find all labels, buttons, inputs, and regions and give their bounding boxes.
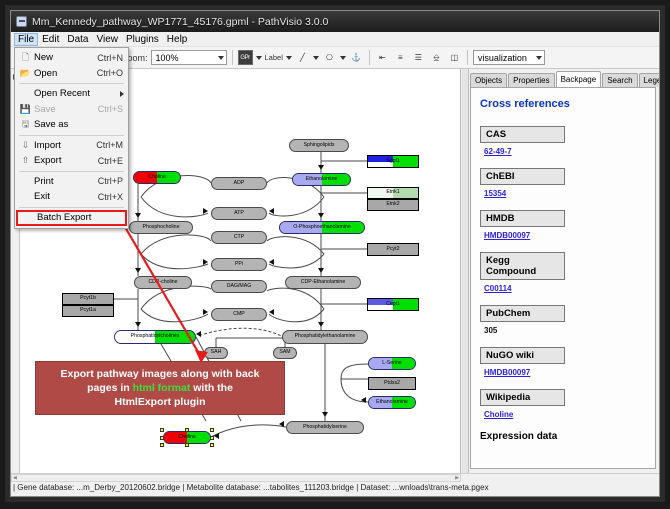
arrowhead-icon <box>135 213 141 218</box>
pathway-node[interactable]: Pcyt2 <box>367 243 419 256</box>
pathway-node[interactable]: CDP-choline <box>134 276 192 289</box>
file-menu-item-shortcut: Ctrl+O <box>97 68 128 78</box>
pathway-node[interactable]: Phosphocholine <box>129 221 193 234</box>
pathway-node[interactable]: DAG/MAG <box>211 280 267 293</box>
pathway-node-label: Phosphocholine <box>143 225 180 230</box>
pathway-node[interactable]: Pcyt1a <box>62 305 114 317</box>
file-menu-item-print[interactable]: PrintCtrl+P <box>15 174 128 190</box>
file-menu-item-exit[interactable]: ExitCtrl+X <box>15 189 128 205</box>
tab-legend[interactable]: Legend <box>639 73 660 87</box>
file-menu-item-batch-export[interactable]: Batch Export <box>16 210 127 226</box>
scroll-right-icon[interactable]: ▶ <box>454 475 460 481</box>
xref-link[interactable]: Choline <box>484 410 513 419</box>
file-menu-item-label: Print <box>34 176 98 187</box>
annotation-line2-pre: pages in <box>87 382 133 394</box>
pathway-node[interactable]: PPi <box>211 258 267 271</box>
toolbar-divider <box>369 50 370 65</box>
xref-value: 305 <box>484 326 646 335</box>
file-menu-item-label: Open Recent <box>34 88 123 99</box>
side-panel-tabs: Objects Properties Backpage Search Legen… <box>470 72 656 87</box>
pathway-node-label: ATP <box>234 211 244 216</box>
xref-value[interactable]: 15354 <box>484 189 646 198</box>
menu-plugins[interactable]: Plugins <box>122 33 163 46</box>
pathway-node-label: SAH <box>211 350 222 355</box>
pathway-node[interactable]: Pcyt1b <box>62 293 114 305</box>
datanode-tool-icon[interactable]: GPr <box>238 50 253 65</box>
pathway-node-label: Choline <box>148 175 166 180</box>
save-as-icon: 🖫 <box>17 117 34 133</box>
selection-handle[interactable] <box>160 436 164 440</box>
menu-file[interactable]: File <box>14 33 38 46</box>
file-menu-item-shortcut: Ctrl+E <box>98 156 128 166</box>
file-menu-item-save: 💾SaveCtrl+S <box>15 102 128 118</box>
file-menu-item-import[interactable]: ⇩ImportCtrl+M <box>15 138 128 154</box>
pathway-node-label: Pcyt2 <box>387 247 400 252</box>
status-bar: ◀ ▶ | Gene database: ...m_Derby_20120602… <box>11 473 659 496</box>
group-tool-icon[interactable]: ⎒ <box>429 50 444 65</box>
file-menu-item-open[interactable]: 📂OpenCtrl+O <box>15 66 128 82</box>
xref-value[interactable]: 62-49-7 <box>484 147 646 156</box>
annotation-line1: Export pathway images along with back <box>61 368 260 380</box>
pathway-node[interactable]: ATP <box>211 207 267 220</box>
annotation-text: Export pathway images along with back pa… <box>61 367 260 410</box>
annotation-callout: Export pathway images along with back pa… <box>35 361 285 415</box>
expression-data-heading: Expression data <box>480 431 646 442</box>
selection-handle[interactable] <box>160 428 164 432</box>
xref-db-name: Kegg Compound <box>480 252 565 280</box>
menu-bar: File Edit Data View Plugins Help <box>11 32 659 47</box>
pathway-node[interactable]: O-Phosphoethanolamine <box>279 221 365 234</box>
pathway-node-label: L-Serine <box>382 361 402 366</box>
title-bar: Mm_Kennedy_pathway_WP1771_45176.gpml - P… <box>11 11 659 32</box>
file-menu-dropdown[interactable]: 🗋NewCtrl+N📂OpenCtrl+OOpen Recent💾SaveCtr… <box>14 47 129 229</box>
arrowhead-icon <box>203 208 208 214</box>
menu-help[interactable]: Help <box>163 33 192 46</box>
menu-view[interactable]: View <box>92 33 122 46</box>
tab-backpage[interactable]: Backpage <box>556 71 602 87</box>
chevron-down-icon[interactable] <box>256 56 262 60</box>
align-tool-icon[interactable]: ⇤ <box>375 50 390 65</box>
xref-db-name: CAS <box>480 126 565 143</box>
annotation-line2-post: with the <box>190 382 233 394</box>
file-menu-item-new[interactable]: 🗋NewCtrl+N <box>15 50 128 66</box>
arrowhead-icon <box>269 259 274 265</box>
import-icon: ⇩ <box>17 140 34 151</box>
xref-link[interactable]: 62-49-7 <box>484 147 512 156</box>
arrowhead-icon <box>203 259 208 265</box>
pathway-node[interactable]: Cept1 <box>367 298 419 311</box>
arrowhead-icon <box>318 213 324 218</box>
line-tool-icon[interactable]: ╱ <box>295 50 310 65</box>
pathway-node[interactable]: CDP-Ethanolamine <box>285 276 361 289</box>
pathway-node-label: Ptdss2 <box>384 381 400 386</box>
pathway-node-label: ADP <box>234 181 245 186</box>
chevron-down-icon[interactable] <box>340 56 346 60</box>
xref-db-name: PubChem <box>480 305 565 322</box>
xref-link[interactable]: 15354 <box>484 189 506 198</box>
pathway-node-label: CMP <box>233 312 245 317</box>
pathway-node-label: Choline <box>178 435 196 440</box>
pathway-node-label: Sphingolipids <box>304 143 335 148</box>
file-menu-item-label: Exit <box>34 191 98 202</box>
save-icon: 💾 <box>17 104 34 115</box>
arrowhead-icon <box>318 322 324 327</box>
pathway-node-label: Phosphatidylethanolamine <box>295 334 356 339</box>
pathway-node-label: Etnk1 <box>386 190 399 195</box>
menu-separator <box>19 135 124 136</box>
arrowhead-icon <box>269 208 274 214</box>
pathway-node[interactable]: Ethanolamine <box>368 396 416 409</box>
arrowhead-icon <box>361 397 366 403</box>
visualization-value: visualization <box>478 53 527 63</box>
menu-separator <box>19 171 124 172</box>
new-file-icon: 🗋 <box>17 50 34 66</box>
visualization-combobox[interactable]: visualization <box>473 50 545 65</box>
pathway-node-label: CTP <box>234 235 244 240</box>
file-menu-item-export[interactable]: ⇧ExportCtrl+E <box>15 153 128 169</box>
pathway-node-label: PPi <box>235 262 243 267</box>
chevron-right-icon <box>120 91 124 97</box>
chevron-down-icon <box>536 56 542 60</box>
toolbar-divider <box>467 50 468 65</box>
side-panel-splitter[interactable] <box>462 69 469 473</box>
menu-edit[interactable]: Edit <box>38 33 63 46</box>
xref-db-name: NuGO wiki <box>480 347 565 364</box>
file-menu-item-shortcut: Ctrl+X <box>98 192 128 202</box>
anchor-tool-icon[interactable]: ⚓ <box>349 50 364 65</box>
pathway-node[interactable]: Etnk1 <box>367 187 419 199</box>
label-tool-label[interactable]: Label <box>265 53 283 62</box>
pathway-node-label: CDP-Ethanolamine <box>301 280 345 285</box>
pathway-node[interactable]: CTP <box>211 231 267 244</box>
selection-handle[interactable] <box>210 443 214 447</box>
pathway-node-label: Phosphatidylserine <box>303 425 347 430</box>
chevron-down-icon[interactable] <box>313 56 319 60</box>
menu-separator <box>19 83 124 84</box>
pathway-node-label: Phosphatidylcholines <box>131 334 180 339</box>
pathway-node[interactable]: Etnk2 <box>367 199 419 211</box>
file-menu-item-shortcut: Ctrl+S <box>98 104 128 114</box>
cross-reference-list: CAS62-49-7ChEBI15354HMDBHMDB00097Kegg Co… <box>480 126 646 419</box>
file-menu-item-shortcut: Ctrl+P <box>98 176 128 186</box>
selection-handle[interactable] <box>210 428 214 432</box>
app-icon <box>16 16 27 27</box>
pathway-node-label: Sgpl1 <box>386 159 399 164</box>
pathway-node-label: Ethanolamine <box>306 177 338 182</box>
screenshot-frame: Mm_Kennedy_pathway_WP1771_45176.gpml - P… <box>0 0 670 509</box>
shape-tool-icon[interactable]: ⎔ <box>322 50 337 65</box>
pathway-node[interactable]: CMP <box>211 308 267 321</box>
pathway-node-label: Pcyt1b <box>80 296 96 301</box>
arrowhead-icon <box>322 412 328 417</box>
status-bar-text: | Gene database: ...m_Derby_20120602.bri… <box>13 483 489 492</box>
order-tool-icon[interactable]: ◫ <box>447 50 462 65</box>
file-menu-item-shortcut: Ctrl+N <box>97 53 128 63</box>
file-menu-item-label: Open <box>34 68 97 79</box>
menu-separator <box>19 207 124 208</box>
arrowhead-icon <box>203 309 208 315</box>
xref-db-name: HMDB <box>480 210 565 227</box>
arrowhead-icon <box>196 331 201 337</box>
pathway-node[interactable]: Choline <box>133 171 181 184</box>
pathway-node-label: DAG/MAG <box>227 284 252 289</box>
backpage-content: Cross references CAS62-49-7ChEBI15354HMD… <box>470 87 656 469</box>
toolbar-divider <box>232 50 233 65</box>
pathvisio-window: Mm_Kennedy_pathway_WP1771_45176.gpml - P… <box>10 10 660 497</box>
pathway-node[interactable]: L-Serine <box>368 357 416 370</box>
xref-value[interactable]: HMDB00097 <box>484 368 646 377</box>
xref-value[interactable]: C00114 <box>484 284 646 293</box>
export-icon: ⇧ <box>17 155 34 166</box>
xref-db-name: ChEBI <box>480 168 565 185</box>
tab-search[interactable]: Search <box>602 73 637 87</box>
arrowhead-icon <box>135 268 141 273</box>
pathway-node[interactable]: ADP <box>211 177 267 190</box>
pathway-node[interactable]: Phosphatidylserine <box>286 421 364 434</box>
folder-icon: 📂 <box>17 68 34 79</box>
arrowhead-icon <box>135 322 141 327</box>
file-menu-item-label: Save as <box>34 119 123 130</box>
zoom-value: 100% <box>156 53 179 63</box>
arrowhead-icon <box>269 309 274 315</box>
pathway-node-label: SAM <box>279 350 290 355</box>
file-menu-item-label: Export <box>34 155 98 166</box>
pathway-node-label: Etnk2 <box>386 202 399 207</box>
pathway-node-label: Ethanolamine <box>376 400 408 405</box>
chevron-down-icon <box>218 56 224 60</box>
xref-value[interactable]: HMDB00097 <box>484 231 646 240</box>
horizontal-scrollbar[interactable]: ◀ ▶ <box>11 474 461 482</box>
xref-link[interactable]: HMDB00097 <box>484 231 530 240</box>
arrowhead-icon <box>318 268 324 273</box>
chevron-down-icon[interactable] <box>286 56 292 60</box>
menu-data[interactable]: Data <box>63 33 92 46</box>
distribute-tool-icon[interactable]: ☰ <box>411 50 426 65</box>
file-menu-item-shortcut: Ctrl+M <box>96 140 128 150</box>
annotation-line3: HtmlExport plugin <box>115 396 206 408</box>
pathway-node-label: Cept1 <box>386 302 400 307</box>
pathway-node[interactable]: SAH <box>204 347 228 359</box>
pathway-node[interactable]: Ptdss2 <box>368 377 416 390</box>
pathway-node[interactable]: Ethanolamine <box>292 173 351 186</box>
selection-handle[interactable] <box>185 443 189 447</box>
pathway-node[interactable]: SAM <box>273 347 297 359</box>
file-menu-item-save-as[interactable]: 🖫Save as <box>15 117 128 133</box>
xref-link[interactable]: HMDB00097 <box>484 368 530 377</box>
pathway-node-label: O-Phosphoethanolamine <box>293 225 350 230</box>
xref-db-name: Wikipedia <box>480 389 565 406</box>
tab-properties[interactable]: Properties <box>508 73 554 87</box>
file-menu-item-label: New <box>34 52 97 63</box>
pathway-node-label: CDP-choline <box>148 280 177 285</box>
pathway-node[interactable]: Phosphatidylethanolamine <box>282 330 368 344</box>
scroll-left-icon[interactable]: ◀ <box>12 475 18 481</box>
pathway-node-label: Pcyt1a <box>80 308 96 313</box>
selection-handle[interactable] <box>185 428 189 432</box>
selection-handle[interactable] <box>160 443 164 447</box>
pathway-node[interactable]: Sphingolipids <box>289 139 349 152</box>
file-menu-item-label: Save <box>34 104 98 115</box>
arrowhead-icon <box>279 421 284 427</box>
stack-tool-icon[interactable]: ≡ <box>393 50 408 65</box>
file-menu-item-label: Import <box>34 140 96 151</box>
file-menu-item-open-recent[interactable]: Open Recent <box>15 86 128 102</box>
cross-references-title: Cross references <box>480 98 646 110</box>
zoom-combobox[interactable]: 100% <box>151 50 227 65</box>
xref-link[interactable]: C00114 <box>484 284 512 293</box>
window-title: Mm_Kennedy_pathway_WP1771_45176.gpml - P… <box>32 16 328 28</box>
file-menu-item-label: Batch Export <box>37 212 120 223</box>
tab-objects[interactable]: Objects <box>470 73 507 87</box>
arrowhead-icon <box>214 433 219 439</box>
pathway-node[interactable]: Phosphatidylcholines <box>114 330 196 344</box>
xref-value[interactable]: Choline <box>484 410 646 419</box>
arrowhead-icon <box>318 165 324 170</box>
selection-handle[interactable] <box>210 436 214 440</box>
side-panel: Objects Properties Backpage Search Legen… <box>462 69 659 473</box>
annotation-highlight: html format <box>133 382 191 394</box>
pathway-node[interactable]: Sgpl1 <box>367 155 419 168</box>
